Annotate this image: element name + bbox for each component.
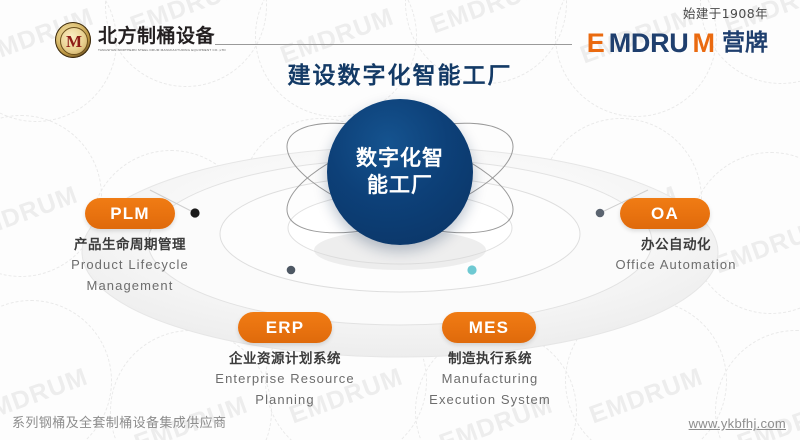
- wordmark-middle: MDRU: [609, 30, 689, 57]
- hub-line-2: 能工厂: [367, 172, 433, 199]
- slide-canvas: EMDRUM EMDRUM EMDRUM EMDRUM EMDRUM EMDRU…: [0, 0, 800, 440]
- node-title-en-oa-1: Office Automation: [560, 256, 792, 275]
- page-title: 建设数字化智能工厂: [0, 56, 800, 90]
- orbit-dot-erp: [287, 266, 296, 275]
- node-title-en-plm-2: Management: [12, 277, 248, 296]
- node-label-plm: 产品生命周期管理 Product Lifecycle Management: [12, 236, 248, 296]
- hub-line-1: 数字化智: [356, 145, 444, 172]
- footer-tagline: 系列钢桶及全套制桶设备集成供应商: [12, 412, 226, 431]
- node-title-cn-erp: 企业资源计划系统: [170, 350, 400, 368]
- badge-oa[interactable]: OA: [620, 198, 710, 229]
- node-title-cn-oa: 办公自动化: [560, 236, 792, 254]
- badge-erp[interactable]: ERP: [238, 312, 332, 343]
- node-label-erp: 企业资源计划系统 Enterprise Resource Planning: [170, 350, 400, 410]
- wordmark-m: M: [693, 30, 716, 57]
- established-text: 始建于1908年: [587, 8, 768, 21]
- node-title-cn-plm: 产品生命周期管理: [12, 236, 248, 254]
- header-divider: [215, 44, 572, 45]
- node-title-en-mes-2: Execution System: [380, 391, 600, 410]
- orbit-dot-plm: [190, 208, 199, 217]
- orbit-dot-mes: [467, 265, 476, 274]
- medallion-letter: M: [66, 33, 82, 50]
- hub-circle: 数字化智 能工厂: [327, 99, 473, 245]
- company-logo-left: M 北方制桶设备 TANGSHAN NORTHERN STEEL DRUM MA…: [55, 22, 226, 58]
- brand-name-cn: 北方制桶设备: [98, 27, 226, 46]
- company-logo-right: 始建于1908年 E MDRU M 营牌: [587, 8, 768, 57]
- node-title-en-erp-2: Planning: [170, 391, 400, 410]
- medallion-icon: M: [55, 22, 91, 58]
- emdrum-wordmark: E MDRU M 营牌: [587, 30, 768, 57]
- orbit-dot-oa: [596, 209, 605, 218]
- badge-mes[interactable]: MES: [442, 312, 536, 343]
- left-logo-text: 北方制桶设备 TANGSHAN NORTHERN STEEL DRUM MANU…: [98, 27, 226, 52]
- node-label-mes: 制造执行系统 Manufacturing Execution System: [380, 350, 600, 410]
- node-title-en-mes-1: Manufacturing: [380, 370, 600, 389]
- badge-plm[interactable]: PLM: [85, 198, 175, 229]
- brand-name-en: TANGSHAN NORTHERN STEEL DRUM MANUFACTURI…: [98, 49, 226, 52]
- medallion-inner: M: [60, 27, 88, 55]
- node-title-en-erp-1: Enterprise Resource: [170, 370, 400, 389]
- wordmark-e: E: [587, 30, 605, 57]
- footer-website[interactable]: www.ykbfhj.com: [689, 416, 786, 431]
- node-title-en-plm-1: Product Lifecycle: [12, 256, 248, 275]
- node-title-cn-mes: 制造执行系统: [380, 350, 600, 368]
- node-label-oa: 办公自动化 Office Automation: [560, 236, 792, 275]
- wordmark-cn: 营牌: [722, 32, 768, 55]
